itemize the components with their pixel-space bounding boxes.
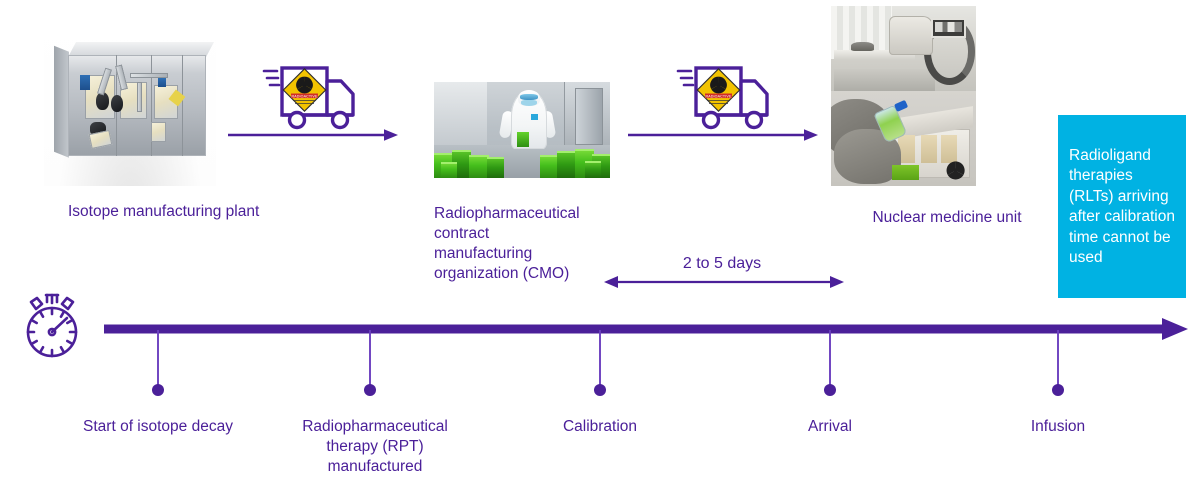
isotope-manufacturing-plant-photo <box>44 18 216 186</box>
svg-text:RADIOACTIVE: RADIOACTIVE <box>705 94 731 98</box>
callout-text: Radioligand therapies (RLTs) arriving af… <box>1069 147 1175 267</box>
stage-label-cmo: Radiopharmaceutical contract manufacturi… <box>434 204 624 284</box>
gamma-camera-scanner-photo <box>831 6 976 91</box>
timeline-label-arrival: Arrival <box>710 417 950 437</box>
flow-arrow-1 <box>228 128 400 142</box>
timeline-milestone-calibration <box>594 330 606 398</box>
duration-double-arrow <box>604 274 844 290</box>
timeline-label-calibration: Calibration <box>480 417 720 437</box>
svg-text:RADIOACTIVE: RADIOACTIVE <box>291 94 317 98</box>
timeline-label-start-decay: Start of isotope decay <box>38 417 278 437</box>
nuclear-medicine-unit-photo <box>831 6 976 186</box>
green-container-stack <box>434 138 610 178</box>
callout-box: Radioligand therapies (RLTs) arriving af… <box>1058 115 1186 298</box>
timeline-milestone-arrival <box>824 330 836 398</box>
stage-label-isotope-plant: Isotope manufacturing plant <box>68 202 328 222</box>
milestone-stem-and-dot <box>364 330 376 398</box>
timeline-label-infusion: Infusion <box>938 417 1178 437</box>
timeline-axis <box>102 318 1188 340</box>
cmo-cleanroom-photo <box>434 82 610 178</box>
timeline-milestone-rpt-made <box>364 330 376 398</box>
diagram-canvas: Isotope manufacturing plant <box>0 0 1200 485</box>
duration-annotation-label: 2 to 5 days <box>604 254 840 274</box>
timeline-milestone-infusion <box>1052 330 1064 398</box>
milestone-stem-and-dot <box>824 330 836 398</box>
vial-handling-shielded-container-photo <box>831 91 976 186</box>
milestone-stem-and-dot <box>1052 330 1064 398</box>
timeline-milestone-start-decay <box>152 330 164 398</box>
milestone-stem-and-dot <box>594 330 606 398</box>
milestone-stem-and-dot <box>152 330 164 398</box>
stopwatch-icon <box>14 290 90 366</box>
stage-label-nuclear-medicine-unit: Nuclear medicine unit <box>832 208 1062 228</box>
flow-arrow-2 <box>628 128 820 142</box>
timeline-label-rpt-made: Radiopharmaceutical therapy (RPT) manufa… <box>255 417 495 477</box>
trefoil-label-icon <box>944 160 967 181</box>
